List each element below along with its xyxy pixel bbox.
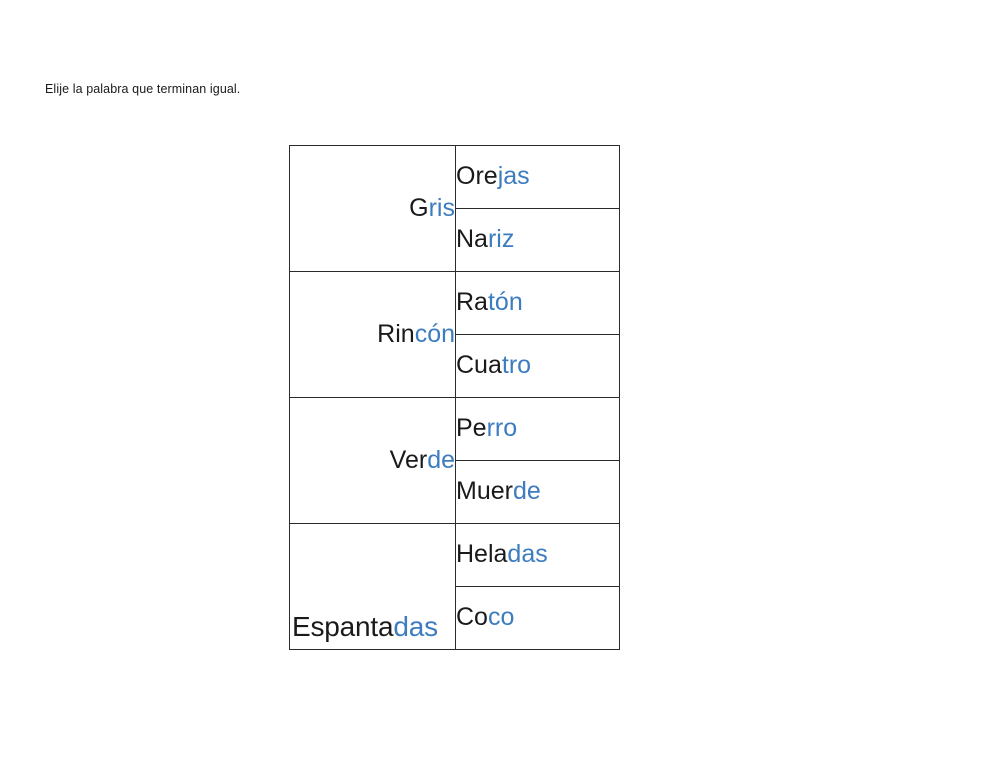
option-cell-1-1[interactable]: Orejas	[456, 146, 620, 209]
prompt-stem-3: Ver	[390, 446, 428, 474]
option-cell-2-1[interactable]: Ratón	[456, 272, 620, 335]
table-row: Verde Perro	[290, 398, 620, 461]
option-stem-2-1: Ra	[456, 288, 488, 316]
prompt-word-2: Rincón	[377, 320, 455, 348]
option-stem-1-2: Na	[456, 225, 488, 253]
option-cell-3-1[interactable]: Perro	[456, 398, 620, 461]
option-ending-3-2: de	[513, 477, 541, 505]
table-row: Rincón Ratón	[290, 272, 620, 335]
option-cell-3-2[interactable]: Muerde	[456, 461, 620, 524]
prompt-stem-2: Rin	[377, 320, 415, 348]
prompt-word-1: Gris	[409, 194, 455, 222]
option-ending-1-2: riz	[488, 225, 514, 253]
option-stem-3-1: Pe	[456, 414, 487, 442]
instruction-text: Elije la palabra que terminan igual.	[45, 80, 240, 98]
option-ending-4-2: co	[488, 603, 514, 631]
option-stem-3-2: Muer	[456, 477, 513, 505]
option-cell-2-2[interactable]: Cuatro	[456, 335, 620, 398]
option-word-4-2: Coco	[456, 603, 514, 631]
option-ending-2-1: tón	[488, 288, 523, 316]
option-stem-2-2: Cua	[456, 351, 502, 379]
option-word-3-2: Muerde	[456, 477, 541, 505]
option-stem-4-2: Co	[456, 603, 488, 631]
prompt-ending-3: de	[427, 446, 455, 474]
option-stem-1-1: Ore	[456, 162, 498, 190]
option-word-2-2: Cuatro	[456, 351, 531, 379]
option-ending-3-1: rro	[487, 414, 518, 442]
option-cell-4-2[interactable]: Coco	[456, 587, 620, 650]
option-word-3-1: Perro	[456, 414, 517, 442]
prompt-word-4: Espantadas	[292, 611, 438, 642]
option-word-4-1: Heladas	[456, 540, 548, 568]
prompt-stem-1: G	[409, 194, 428, 222]
option-ending-4-1: das	[507, 540, 547, 568]
prompt-cell-3[interactable]: Verde	[290, 398, 456, 524]
word-matching-table: Gris Orejas Nariz Rincón Ratón	[289, 145, 620, 650]
prompt-ending-1: ris	[429, 194, 455, 222]
prompt-ending-4: das	[393, 611, 438, 642]
option-word-1-2: Nariz	[456, 225, 514, 253]
option-cell-4-1[interactable]: Heladas	[456, 524, 620, 587]
prompt-stem-4: Espanta	[292, 611, 393, 642]
prompt-word-3: Verde	[390, 446, 455, 474]
prompt-cell-4[interactable]: Espantadas	[290, 524, 456, 650]
option-ending-1-1: jas	[498, 162, 530, 190]
option-cell-1-2[interactable]: Nariz	[456, 209, 620, 272]
prompt-cell-1[interactable]: Gris	[290, 146, 456, 272]
option-word-2-1: Ratón	[456, 288, 523, 316]
table-row: Gris Orejas	[290, 146, 620, 209]
prompt-ending-2: cón	[415, 320, 455, 348]
option-word-1-1: Orejas	[456, 162, 530, 190]
prompt-cell-2[interactable]: Rincón	[290, 272, 456, 398]
option-ending-2-2: tro	[502, 351, 531, 379]
table-row: Espantadas Heladas	[290, 524, 620, 587]
worksheet-page: Elije la palabra que terminan igual. Gri…	[0, 0, 1000, 772]
option-stem-4-1: Hela	[456, 540, 507, 568]
